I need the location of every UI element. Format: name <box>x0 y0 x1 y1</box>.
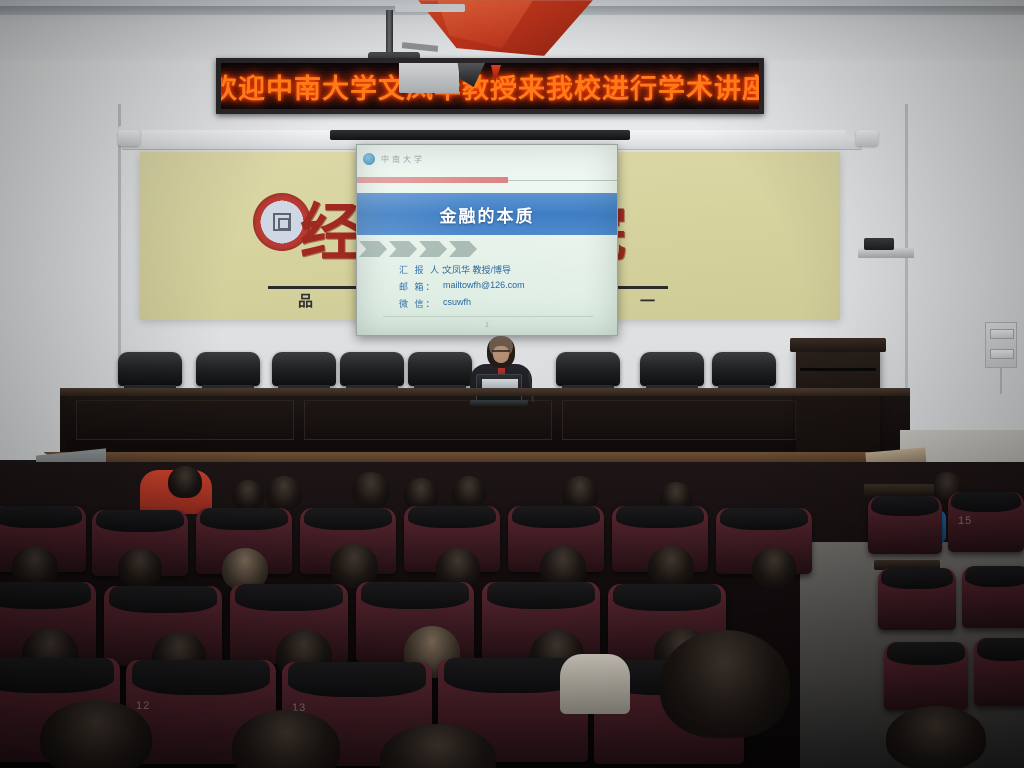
seat-headrest <box>951 492 1021 512</box>
head-table <box>66 388 806 450</box>
audience-head <box>752 548 796 588</box>
audience-head <box>562 476 598 510</box>
seat-headrest <box>616 506 704 528</box>
seat-headrest <box>0 506 82 528</box>
seat-headrest <box>361 582 470 609</box>
slide-title-band: 金融的本质 <box>357 193 617 235</box>
audience-head-foreground <box>886 706 986 768</box>
slide-info-row: 邮 箱： mailtowfh@126.com <box>399 280 599 293</box>
aisle-seat[interactable] <box>878 568 956 630</box>
seat-headrest <box>408 506 496 528</box>
audience-head-foreground <box>660 630 790 738</box>
projector-mount-plate <box>395 4 465 12</box>
audience-head <box>352 472 390 508</box>
stage-chair <box>556 352 620 386</box>
switch-bottom-icon[interactable] <box>990 349 1014 359</box>
seat-headrest <box>887 642 964 665</box>
seat-headrest <box>881 568 953 589</box>
wall-equipment-box <box>864 238 894 250</box>
audience-head <box>168 466 202 498</box>
wall-switch-panel[interactable] <box>985 322 1017 368</box>
audience-white-jacket <box>560 654 630 714</box>
slide-title: 金融的本质 <box>440 202 535 227</box>
aisle-seat[interactable] <box>868 496 942 554</box>
audience-head-foreground <box>40 700 152 768</box>
slide-accent-bar <box>357 177 508 183</box>
head-table-panel <box>304 400 552 440</box>
slide-info-value: 文凤华 教授/博导 <box>443 263 511 276</box>
seat-headrest <box>288 662 426 697</box>
seat-headrest <box>720 508 808 530</box>
chevron-icon <box>389 241 417 257</box>
aisle-seat[interactable]: 15 <box>948 492 1024 552</box>
slide-accent-line <box>508 180 617 181</box>
seat-headrest <box>977 638 1024 661</box>
aisle-seat[interactable] <box>974 638 1024 706</box>
seat-headrest <box>0 582 91 609</box>
seat-headrest <box>96 510 184 532</box>
projection-screen-housing <box>330 130 630 140</box>
seat-headrest <box>200 508 288 530</box>
head-table-panel <box>562 400 796 440</box>
seat-number: 15 <box>958 515 972 527</box>
lectern-groove <box>800 368 876 371</box>
switch-top-icon[interactable] <box>990 329 1014 339</box>
stage-chair <box>340 352 404 386</box>
slide-info-value: csuwfh <box>443 297 471 310</box>
led-welcome-banner: 欢迎中南大学文凤华教授来我校进行学术讲座 <box>216 58 764 114</box>
stage-chair <box>712 352 776 386</box>
backdrop-sub-right: 一 <box>640 290 655 311</box>
seat-headrest <box>965 566 1024 587</box>
stage-chair <box>640 352 704 386</box>
slide-info-row: 汇 报 人： 文凤华 教授/博导 <box>399 263 599 276</box>
head-table-panel <box>76 400 294 440</box>
stage-chair <box>196 352 260 386</box>
seat-headrest <box>512 506 600 528</box>
seat-headrest <box>871 496 939 516</box>
slide-footer-rule <box>383 316 593 317</box>
slide-info-label: 汇 报 人： <box>399 263 437 276</box>
led-banner-text: 欢迎中南大学文凤华教授来我校进行学术讲座 <box>216 67 764 106</box>
seat-number: 12 <box>136 700 150 712</box>
seat-headrest <box>109 586 218 613</box>
presenter-face <box>493 346 509 363</box>
chevron-icon <box>449 241 477 257</box>
slide-logo: 中南大学 <box>363 153 425 165</box>
seat-headrest <box>487 582 596 609</box>
seat-headrest <box>132 660 270 695</box>
stage-chair <box>408 352 472 386</box>
seat-headrest <box>0 658 114 693</box>
slide-page-number: 1 <box>485 322 489 329</box>
slide-info-label: 邮 箱： <box>399 280 437 293</box>
switch-panel-stem <box>1000 368 1002 394</box>
banner-occluding-bracket <box>399 58 459 93</box>
lectern-top <box>790 338 886 352</box>
slide-presenter-info: 汇 报 人： 文凤华 教授/博导 邮 箱： mailtowfh@126.com … <box>399 263 599 314</box>
audience-head <box>266 476 302 510</box>
wall-speaker-right-icon <box>856 130 878 146</box>
aisle-seat[interactable] <box>884 642 968 710</box>
seat-headrest <box>304 508 392 530</box>
stage-chair <box>118 352 182 386</box>
slide-info-value: mailtowfh@126.com <box>443 280 525 293</box>
audience-head <box>452 476 486 508</box>
backdrop-sub-left: 品 <box>298 290 313 311</box>
slide-info-row: 微 信： csuwfh <box>399 297 599 310</box>
stage-front-rail <box>60 388 910 396</box>
seat-headrest <box>235 584 344 611</box>
audience-head <box>118 548 162 588</box>
audience-area: 12 13 15 <box>0 462 1024 768</box>
seat-desk-arm <box>864 484 934 496</box>
slide-chevron-decor <box>359 241 477 257</box>
seat-headrest <box>613 584 722 611</box>
slide-info-label: 微 信： <box>399 297 437 310</box>
audience-head <box>648 546 694 588</box>
stage-chair <box>272 352 336 386</box>
lecture-hall-scene: 经济学院 ERSITY 品 一 欢迎中南大学文凤华教授来我校进行学术讲座 中南大… <box>0 0 1024 768</box>
laptop-base <box>470 400 528 406</box>
chevron-icon <box>359 241 387 257</box>
glasses-icon <box>492 350 510 354</box>
audience-head <box>232 480 264 510</box>
chevron-icon <box>419 241 447 257</box>
seal-emblem-icon <box>273 213 291 231</box>
wall-speaker-left-icon <box>118 130 140 146</box>
slide-logo-text: 中南大学 <box>381 154 425 165</box>
university-logo-icon <box>363 153 375 165</box>
aisle-seat[interactable] <box>962 566 1024 628</box>
projector-pole <box>386 10 393 58</box>
projection-screen: 中南大学 金融的本质 汇 报 人： 文凤华 教授/博导 邮 箱： <box>356 144 618 336</box>
presentation-slide: 中南大学 金融的本质 汇 报 人： 文凤华 教授/博导 邮 箱： <box>357 145 617 335</box>
